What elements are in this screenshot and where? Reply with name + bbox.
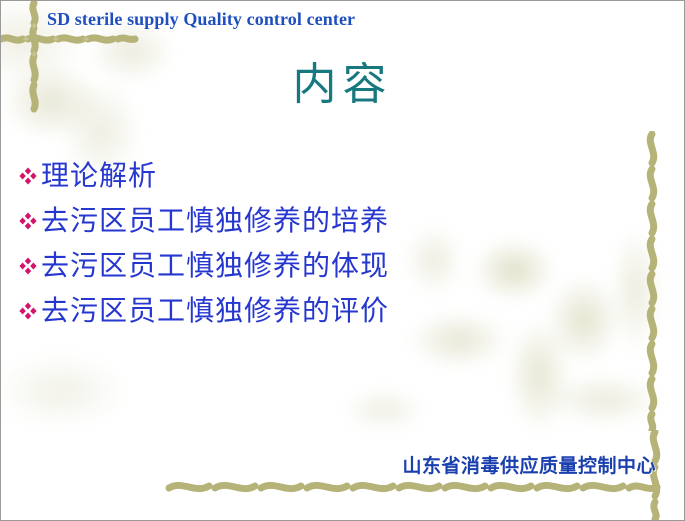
- content-bullet-list: 理论解析 去污区员工慎独修养的培养: [15, 153, 655, 333]
- list-item: 去污区员工慎独修养的体现: [15, 243, 655, 288]
- diamond-cluster-bullet-icon: [15, 212, 41, 230]
- presentation-slide: SD sterile supply Quality control center…: [0, 0, 685, 521]
- slide-header: SD sterile supply Quality control center: [47, 9, 355, 30]
- list-item-label: 去污区员工慎独修养的体现: [41, 252, 389, 280]
- diamond-cluster-bullet-icon: [15, 167, 41, 185]
- list-item-label: 去污区员工慎独修养的培养: [41, 207, 389, 235]
- floral-watermark-mid-left: [1, 331, 201, 461]
- list-item-label: 理论解析: [41, 162, 157, 190]
- list-item: 去污区员工慎独修养的培养: [15, 198, 655, 243]
- list-item: 理论解析: [15, 153, 655, 198]
- footer-organization-text: 山东省消毒供应质量控制中心: [402, 451, 656, 478]
- diamond-cluster-bullet-icon: [15, 302, 41, 320]
- header-title: SD sterile supply Quality control center: [47, 9, 355, 30]
- page-title-text: 内容: [293, 59, 393, 110]
- page-title: 内容: [1, 63, 684, 107]
- list-item-label: 去污区员工慎独修养的评价: [41, 297, 389, 325]
- slide-footer: 山东省消毒供应质量控制中心: [402, 451, 656, 478]
- list-item: 去污区员工慎独修养的评价: [15, 288, 655, 333]
- diamond-cluster-bullet-icon: [15, 257, 41, 275]
